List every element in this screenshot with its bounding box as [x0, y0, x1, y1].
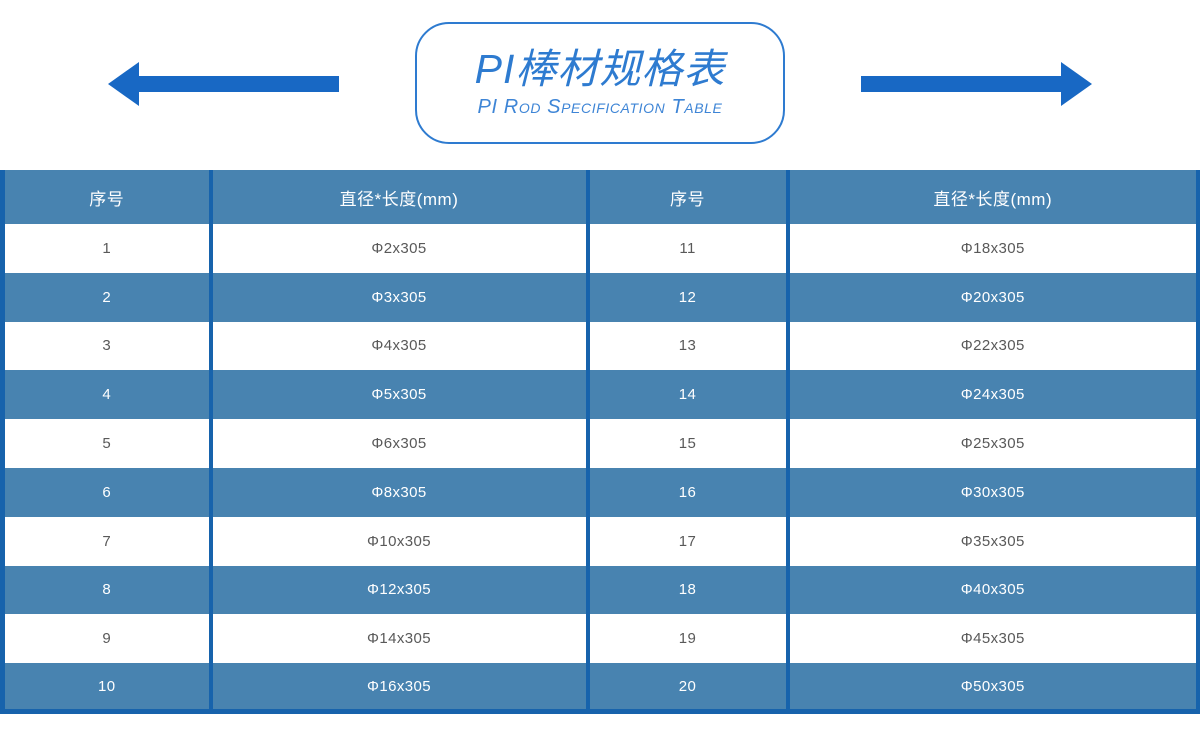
table-row: 5Φ6x30515Φ25x305	[3, 419, 1199, 468]
cell-spec-a: Φ2x305	[211, 224, 588, 273]
cell-index-b: 15	[588, 419, 788, 468]
table-row: 8Φ12x30518Φ40x305	[3, 566, 1199, 615]
cell-spec-a: Φ5x305	[211, 370, 588, 419]
cell-index-b: 17	[588, 517, 788, 566]
arrow-left-shaft	[139, 76, 339, 92]
cell-spec-b: Φ35x305	[788, 517, 1199, 566]
cell-spec-a: Φ8x305	[211, 468, 588, 517]
cell-index-a: 4	[3, 370, 211, 419]
table-row: 4Φ5x30514Φ24x305	[3, 370, 1199, 419]
cell-spec-b: Φ18x305	[788, 224, 1199, 273]
cell-spec-a: Φ16x305	[211, 663, 588, 712]
spec-table: 序号 直径*长度(mm) 序号 直径*长度(mm) 1Φ2x30511Φ18x3…	[0, 170, 1200, 714]
cell-index-a: 3	[3, 322, 211, 371]
arrow-right-shaft	[861, 76, 1061, 92]
cell-spec-a: Φ4x305	[211, 322, 588, 371]
table-row: 10Φ16x30520Φ50x305	[3, 663, 1199, 712]
cell-index-a: 8	[3, 566, 211, 615]
cell-spec-a: Φ10x305	[211, 517, 588, 566]
spec-table-body: 1Φ2x30511Φ18x3052Φ3x30512Φ20x3053Φ4x3051…	[3, 224, 1199, 712]
title-badge: PI棒材规格表 PI Rod Specification Table	[415, 22, 785, 144]
cell-spec-b: Φ50x305	[788, 663, 1199, 712]
cell-index-b: 13	[588, 322, 788, 371]
cell-index-b: 19	[588, 614, 788, 663]
cell-spec-a: Φ14x305	[211, 614, 588, 663]
table-row: 9Φ14x30519Φ45x305	[3, 614, 1199, 663]
cell-index-a: 5	[3, 419, 211, 468]
cell-spec-b: Φ40x305	[788, 566, 1199, 615]
page-banner: PI棒材规格表 PI Rod Specification Table	[0, 0, 1200, 166]
cell-index-b: 14	[588, 370, 788, 419]
cell-index-b: 20	[588, 663, 788, 712]
spec-table-container: 序号 直径*长度(mm) 序号 直径*长度(mm) 1Φ2x30511Φ18x3…	[0, 170, 1200, 714]
cell-spec-a: Φ12x305	[211, 566, 588, 615]
arrow-left-icon	[108, 76, 339, 92]
table-row: 7Φ10x30517Φ35x305	[3, 517, 1199, 566]
cell-index-a: 6	[3, 468, 211, 517]
cell-spec-b: Φ30x305	[788, 468, 1199, 517]
spec-table-head: 序号 直径*长度(mm) 序号 直径*长度(mm)	[3, 170, 1199, 224]
cell-index-b: 12	[588, 273, 788, 322]
table-row: 3Φ4x30513Φ22x305	[3, 322, 1199, 371]
cell-spec-a: Φ3x305	[211, 273, 588, 322]
arrow-left-head	[108, 62, 139, 106]
cell-index-b: 11	[588, 224, 788, 273]
column-header-spec-b: 直径*长度(mm)	[788, 170, 1199, 224]
table-row: 2Φ3x30512Φ20x305	[3, 273, 1199, 322]
table-row: 1Φ2x30511Φ18x305	[3, 224, 1199, 273]
page-title: PI棒材规格表	[475, 47, 726, 93]
table-header-row: 序号 直径*长度(mm) 序号 直径*长度(mm)	[3, 170, 1199, 224]
cell-spec-b: Φ25x305	[788, 419, 1199, 468]
cell-index-b: 16	[588, 468, 788, 517]
page-subtitle: PI Rod Specification Table	[478, 96, 723, 119]
cell-index-b: 18	[588, 566, 788, 615]
column-header-spec-a: 直径*长度(mm)	[211, 170, 588, 224]
cell-spec-b: Φ45x305	[788, 614, 1199, 663]
cell-spec-b: Φ22x305	[788, 322, 1199, 371]
column-header-index-a: 序号	[3, 170, 211, 224]
table-row: 6Φ8x30516Φ30x305	[3, 468, 1199, 517]
cell-spec-a: Φ6x305	[211, 419, 588, 468]
cell-index-a: 7	[3, 517, 211, 566]
cell-index-a: 9	[3, 614, 211, 663]
cell-index-a: 2	[3, 273, 211, 322]
cell-index-a: 10	[3, 663, 211, 712]
cell-spec-b: Φ24x305	[788, 370, 1199, 419]
arrow-right-head	[1061, 62, 1092, 106]
cell-index-a: 1	[3, 224, 211, 273]
cell-spec-b: Φ20x305	[788, 273, 1199, 322]
arrow-right-icon	[861, 76, 1092, 92]
column-header-index-b: 序号	[588, 170, 788, 224]
